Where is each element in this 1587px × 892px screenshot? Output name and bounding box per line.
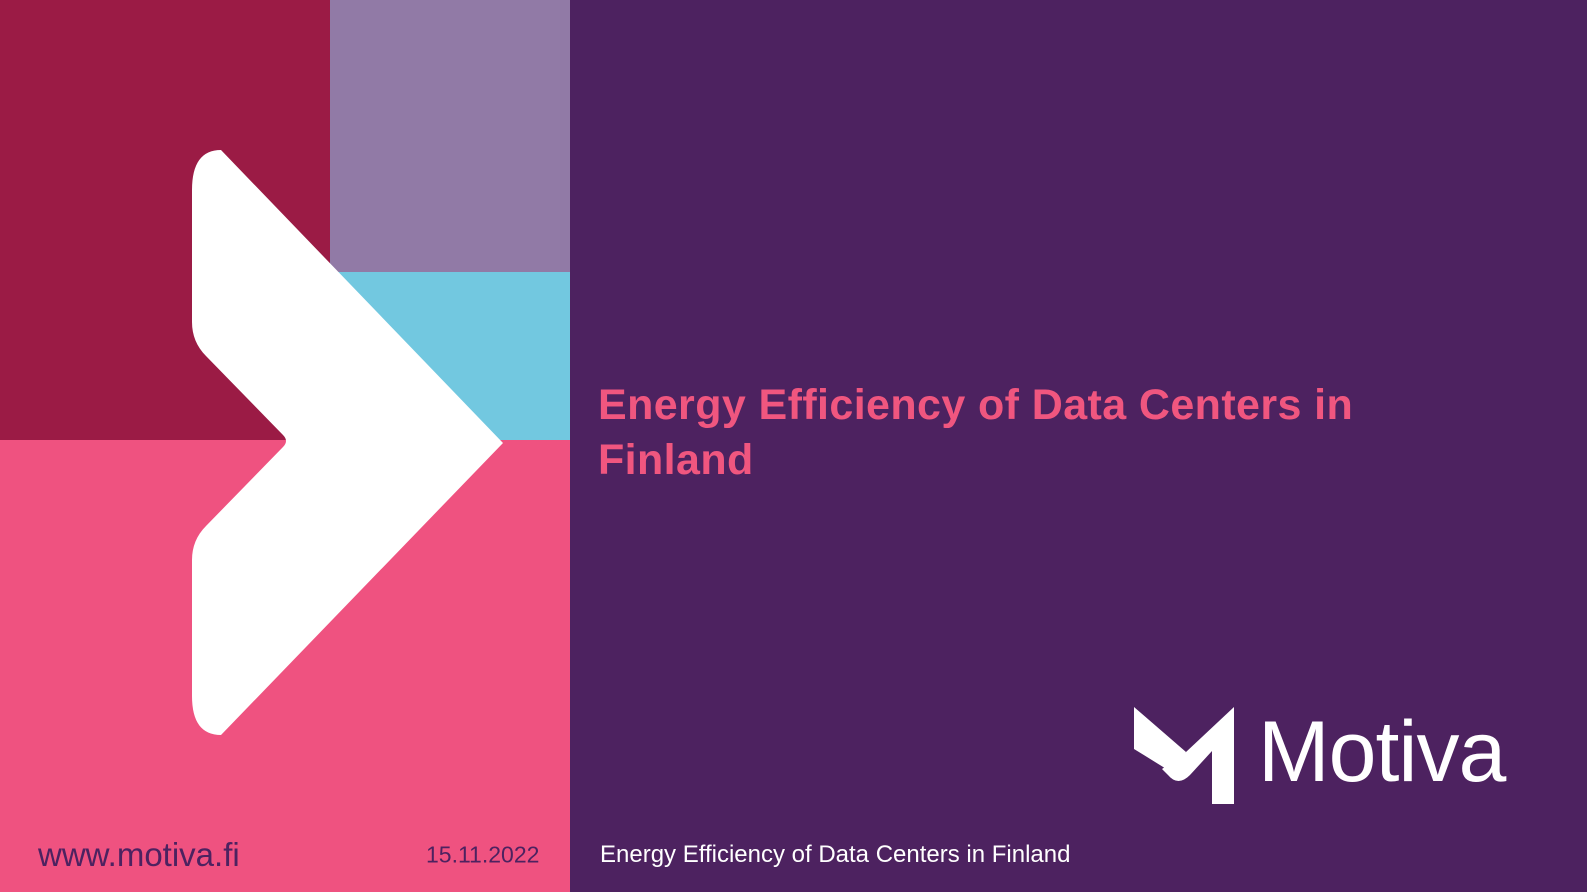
purple-block (330, 0, 570, 272)
footer-subject-text: Energy Efficiency of Data Centers in Fin… (600, 841, 1070, 869)
main-content-panel: Energy Efficiency of Data Centers in Fin… (570, 0, 1587, 892)
footer-left-bar: www.motiva.fi 15.11.2022 (0, 818, 570, 892)
motiva-logo: Motiva (1128, 703, 1505, 808)
footer-website-url[interactable]: www.motiva.fi (38, 836, 240, 874)
left-graphic-panel (0, 0, 570, 892)
crimson-block (0, 0, 330, 440)
cyan-block (330, 272, 570, 443)
title-slide: Energy Efficiency of Data Centers in Fin… (0, 0, 1587, 892)
footer-right-bar: Energy Efficiency of Data Centers in Fin… (570, 818, 1587, 892)
motiva-wordmark: Motiva (1258, 709, 1505, 803)
motiva-arrow-mark-icon (1128, 703, 1240, 808)
footer-date: 15.11.2022 (426, 842, 539, 869)
page-title: Energy Efficiency of Data Centers in Fin… (598, 378, 1498, 488)
